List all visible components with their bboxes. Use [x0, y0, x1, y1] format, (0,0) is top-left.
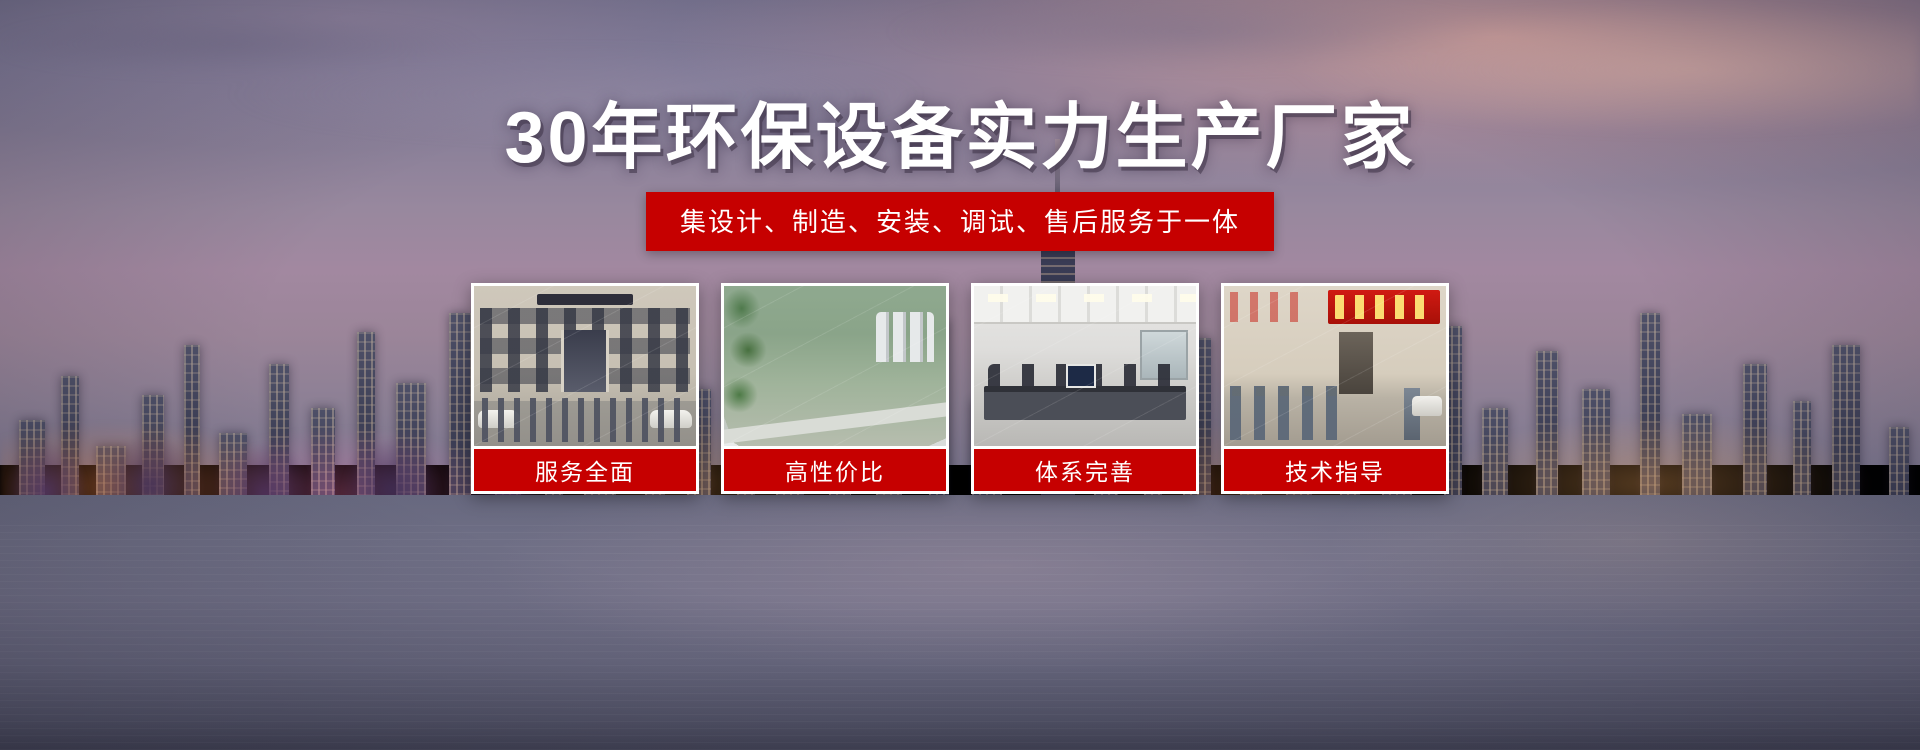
- feature-card[interactable]: 体系完善: [971, 283, 1199, 494]
- office-desks: [984, 386, 1186, 420]
- staff-lineup: [482, 398, 688, 442]
- worker-group: [1230, 386, 1350, 440]
- workshop-vehicle: [1412, 396, 1442, 416]
- feature-card[interactable]: 服务全面: [471, 283, 699, 494]
- banner-content: 30年环保设备实力生产厂家 集设计、制造、安装、调试、售后服务于一体 服务全面: [0, 0, 1920, 750]
- ceiling-panels: [974, 286, 1196, 324]
- banner-headline: 30年环保设备实力生产厂家: [0, 102, 1920, 174]
- card-photo-office-building: [474, 286, 696, 446]
- feature-card-caption: 体系完善: [974, 446, 1196, 491]
- storage-silos: [876, 312, 934, 362]
- feature-card-caption: 技术指导: [1224, 446, 1446, 491]
- desk-monitor: [1066, 364, 1096, 388]
- building-entrance: [561, 330, 609, 392]
- workshop-door: [1339, 332, 1373, 394]
- red-wall-sign: [1328, 290, 1440, 324]
- feature-card-caption: 服务全面: [474, 446, 696, 491]
- card-photo-workshop: [1224, 286, 1446, 446]
- feature-card[interactable]: 高性价比: [721, 283, 949, 494]
- feature-card[interactable]: 技术指导: [1221, 283, 1449, 494]
- banner-subtitle-bar: 集设计、制造、安装、调试、售后服务于一体: [646, 192, 1274, 251]
- card-photo-office-interior: [974, 286, 1196, 446]
- feature-card-caption: 高性价比: [724, 446, 946, 491]
- wall-banner-left: [1230, 292, 1306, 322]
- card-photo-industrial-plant: [724, 286, 946, 446]
- ceiling-lights: [974, 294, 1196, 302]
- feature-card-list: 服务全面 高性价比: [471, 283, 1449, 494]
- building-sign: [537, 294, 633, 305]
- hero-banner: 30年环保设备实力生产厂家 集设计、制造、安装、调试、售后服务于一体 服务全面: [0, 0, 1920, 750]
- plant-treeline: [724, 286, 768, 446]
